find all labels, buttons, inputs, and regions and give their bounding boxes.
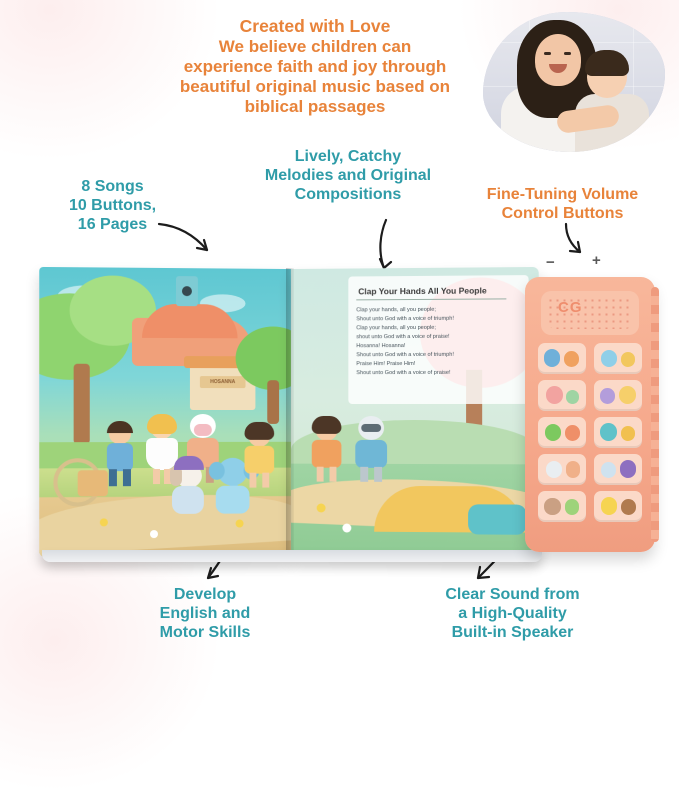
flower [150, 530, 158, 538]
arrow-volume [560, 222, 594, 256]
brand-logo: CG [558, 299, 583, 316]
character-raccoon [352, 416, 388, 482]
callout-develop-line-3: Motor Skills [115, 624, 295, 643]
character-girl-yellow [242, 426, 276, 488]
stall-sign: HOSANNA [200, 376, 246, 388]
character-girl-orange [309, 420, 343, 482]
mother-and-child-photo [483, 12, 665, 152]
tree-trunk [267, 380, 279, 424]
lyric-line: Shout unto God with a voice of triumph! [356, 351, 521, 361]
slide-end [468, 504, 526, 535]
flower [317, 503, 326, 512]
speaker-grille [541, 291, 639, 335]
volume-down-label: − [546, 254, 555, 271]
headline-line-3: experience faith and joy through [150, 57, 480, 77]
callout-volume-line-2: Control Buttons [455, 205, 670, 224]
book-spine [286, 268, 294, 556]
character-dog [168, 464, 208, 522]
book-right-page: Clap Your Hands All You People Clap your… [291, 267, 539, 557]
arrow-melodies [368, 216, 398, 272]
callout-develop-line-2: English and [115, 605, 295, 624]
sound-button[interactable] [594, 380, 642, 411]
sound-button[interactable] [538, 380, 586, 411]
callout-melodies-line-1: Lively, Catchy [243, 148, 453, 167]
sound-button-grid[interactable] [538, 343, 642, 522]
callout-sound-line-1: Clear Sound from [405, 586, 620, 605]
callout-develop-line-1: Develop [115, 586, 295, 605]
arrow-songs [155, 218, 215, 258]
promo-image: Created with Love We believe children ca… [0, 0, 679, 651]
flower [236, 520, 244, 528]
photo-child-eye [595, 72, 601, 75]
sound-book: HOSANNA [40, 268, 535, 558]
photo-child-eye [611, 72, 617, 75]
tree-trunk [74, 364, 90, 444]
book-base-edge [42, 550, 542, 562]
headline-block: Created with Love We believe children ca… [150, 16, 480, 117]
callout-sound: Clear Sound from a High-Quality Built-in… [405, 586, 620, 643]
flower [342, 524, 351, 533]
photo-mother-eye [544, 52, 551, 55]
callout-songs-line-1: 8 Songs [40, 178, 185, 197]
headline-line-1: Created with Love [150, 16, 480, 37]
sound-button[interactable] [594, 417, 642, 448]
callout-melodies-line-3: Compositions [243, 186, 453, 205]
callout-sound-line-2: a High-Quality [405, 605, 620, 624]
sound-module[interactable]: CG [525, 277, 655, 552]
photo-mother-eye [564, 52, 571, 55]
callout-melodies: Lively, Catchy Melodies and Original Com… [243, 148, 453, 205]
song-lyrics: Clap your hands, all you people; Shout u… [356, 305, 521, 378]
cart [78, 470, 108, 496]
book-left-page: HOSANNA [39, 267, 291, 557]
sound-button[interactable] [594, 343, 642, 374]
sound-button[interactable] [538, 417, 586, 448]
headline-line-5: biblical passages [150, 97, 480, 117]
flower [100, 518, 108, 526]
sound-button[interactable] [538, 343, 586, 374]
sound-button[interactable] [538, 491, 586, 522]
song-title: Clap Your Hands All You People [358, 285, 486, 296]
headline-line-2: We believe children can [150, 37, 480, 57]
sound-button[interactable] [538, 454, 586, 485]
callout-melodies-line-2: Melodies and Original [243, 167, 453, 186]
callout-volume-line-1: Fine-Tuning Volume [455, 186, 670, 205]
callout-develop: Develop English and Motor Skills [115, 586, 295, 643]
callout-songs-line-2: 10 Buttons, [40, 197, 185, 216]
callout-volume: Fine-Tuning Volume Control Buttons [455, 186, 670, 224]
photo-child-hair [585, 50, 629, 76]
headline-line-4: beautiful original music based on [150, 77, 480, 97]
lyric-line: Praise Him! Praise Him! [356, 360, 521, 370]
callout-sound-line-3: Built-in Speaker [405, 624, 620, 643]
sound-button[interactable] [594, 454, 642, 485]
lyric-line: Shout unto God with a voice of praise! [356, 369, 521, 378]
sound-button[interactable] [594, 491, 642, 522]
photo-mother-face [535, 34, 581, 86]
volume-up-label: + [592, 252, 601, 269]
